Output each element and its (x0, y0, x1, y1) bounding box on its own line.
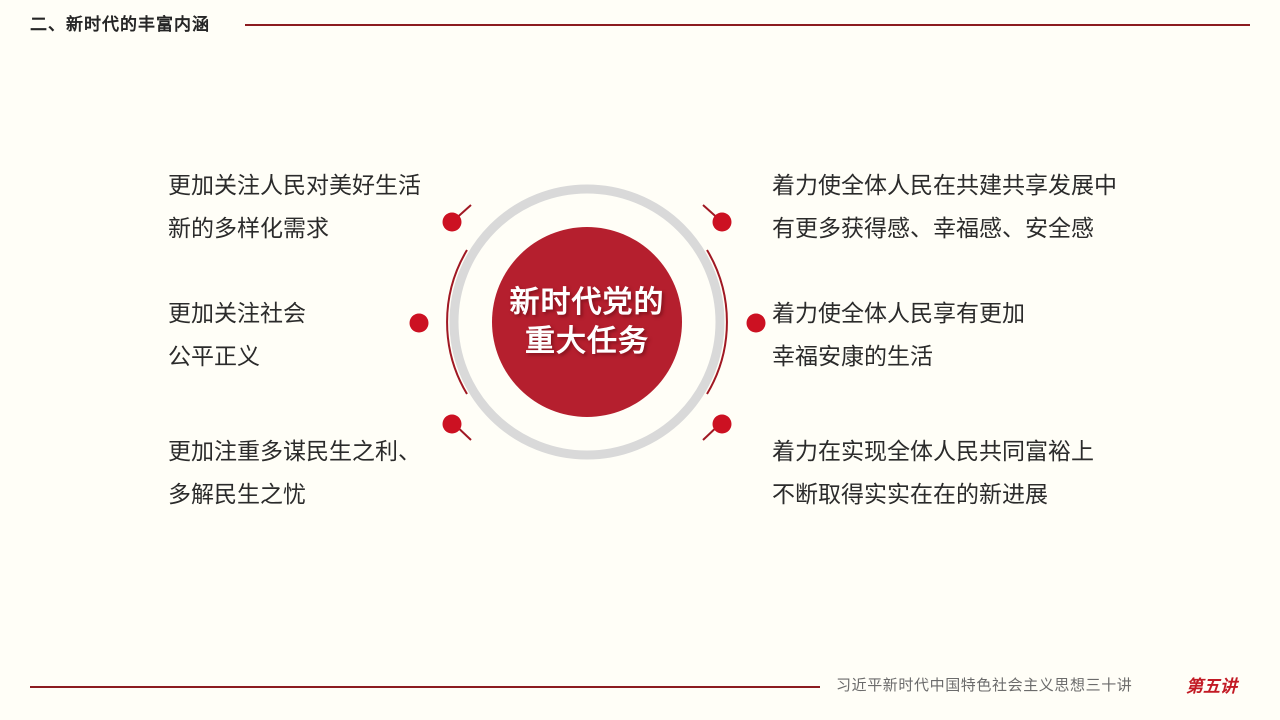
diagram-item-right-2-line-1: 着力使全体人民享有更加 (772, 292, 1025, 335)
diagram-item-right-1-line-1: 着力使全体人民在共建共享发展中 (772, 164, 1117, 207)
diagram-item-left-3-line-2: 多解民生之忧 (168, 473, 421, 516)
footer-divider-line (30, 686, 820, 688)
connector-dot-left-1 (443, 213, 462, 232)
diagram-item-left-2: 更加关注社会 公平正义 (168, 292, 306, 378)
diagram-item-left-1-line-2: 新的多样化需求 (168, 207, 421, 250)
diagram-item-left-3: 更加注重多谋民生之利、 多解民生之忧 (168, 430, 421, 516)
connector-dot-right-1 (713, 213, 732, 232)
center-node-line-1: 新时代党的 (510, 283, 665, 322)
center-node: 新时代党的 重大任务 (492, 227, 682, 417)
diagram-item-right-3-line-2: 不断取得实实在在的新进展 (772, 473, 1094, 516)
diagram-item-left-1-line-1: 更加关注人民对美好生活 (168, 164, 421, 207)
diagram-item-right-1: 着力使全体人民在共建共享发展中 有更多获得感、幸福感、安全感 (772, 164, 1117, 250)
diagram-item-left-2-line-1: 更加关注社会 (168, 292, 306, 335)
diagram-item-right-2-line-2: 幸福安康的生活 (772, 335, 1025, 378)
diagram-item-left-2-line-2: 公平正义 (168, 335, 306, 378)
diagram-item-right-3-line-1: 着力在实现全体人民共同富裕上 (772, 430, 1094, 473)
connector-dot-left-3 (443, 415, 462, 434)
diagram-item-left-3-line-1: 更加注重多谋民生之利、 (168, 430, 421, 473)
diagram-item-left-1: 更加关注人民对美好生活 新的多样化需求 (168, 164, 421, 250)
connector-dot-right-3 (713, 415, 732, 434)
connector-dot-left-2 (410, 314, 429, 333)
radial-diagram: 新时代党的 重大任务 更加关注人民对美好生活 新的多样化需求 更加关注社会 公平… (0, 0, 1280, 720)
connector-dot-right-2 (747, 314, 766, 333)
footer-course-title: 习近平新时代中国特色社会主义思想三十讲 (836, 674, 1132, 695)
diagram-item-right-2: 着力使全体人民享有更加 幸福安康的生活 (772, 292, 1025, 378)
diagram-item-right-1-line-2: 有更多获得感、幸福感、安全感 (772, 207, 1117, 250)
footer-lecture-badge: 第五讲 (1186, 672, 1237, 697)
slide-footer: 习近平新时代中国特色社会主义思想三十讲 第五讲 (0, 674, 1280, 720)
diagram-item-right-3: 着力在实现全体人民共同富裕上 不断取得实实在在的新进展 (772, 430, 1094, 516)
center-node-line-2: 重大任务 (525, 322, 649, 361)
